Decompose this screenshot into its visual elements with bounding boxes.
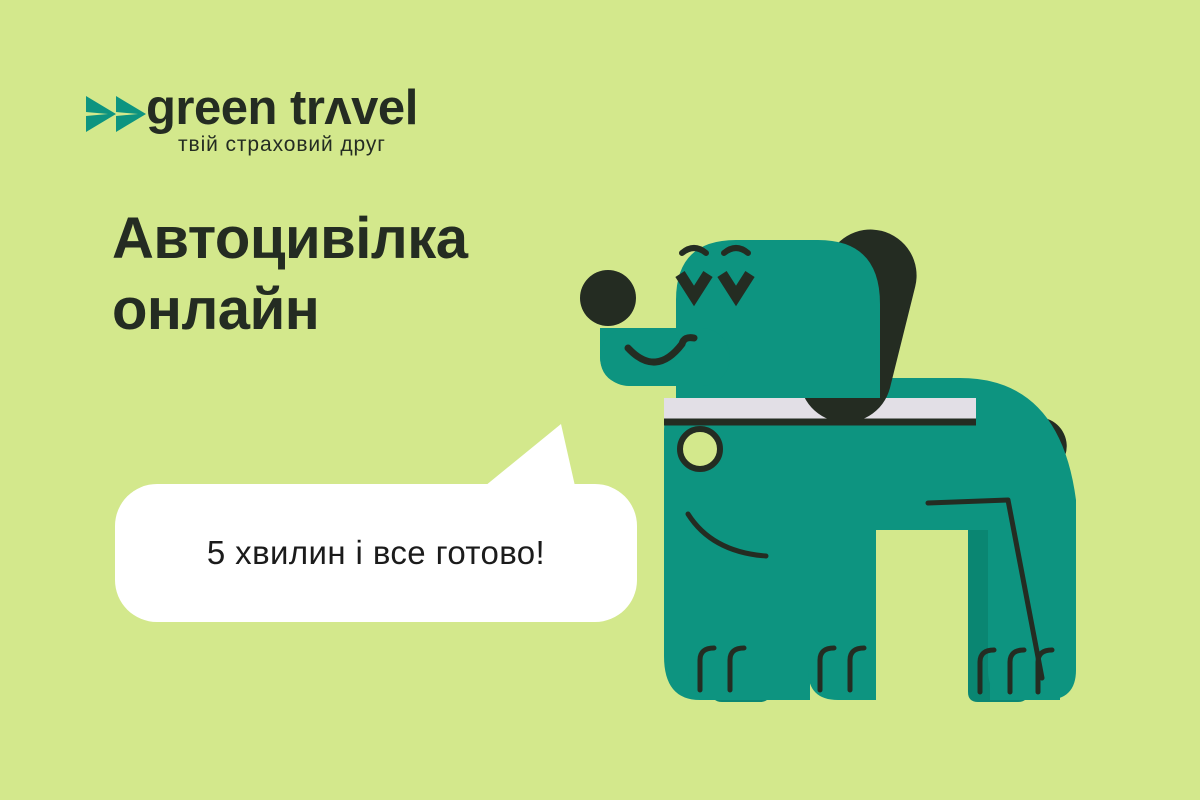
speech-bubble-text: 5 хвилин і все готово!: [115, 484, 637, 622]
logo-tagline: твій страховий друг: [178, 133, 386, 157]
dog-collar-tag: [680, 429, 720, 469]
double-chevron-right-icon: [86, 94, 152, 134]
dog-nose: [580, 270, 636, 326]
page-title: Автоцивілка онлайн: [112, 204, 632, 346]
brand-logo[interactable]: green trʌvel твій страховий друг: [86, 86, 506, 166]
banner-canvas: green trʌvel твій страховий друг Автоцив…: [0, 0, 1200, 800]
speech-bubble: 5 хвилин і все готово!: [115, 484, 637, 622]
dog-illustration: [560, 200, 1140, 760]
logo-wordmark: green trʌvel: [146, 80, 418, 136]
